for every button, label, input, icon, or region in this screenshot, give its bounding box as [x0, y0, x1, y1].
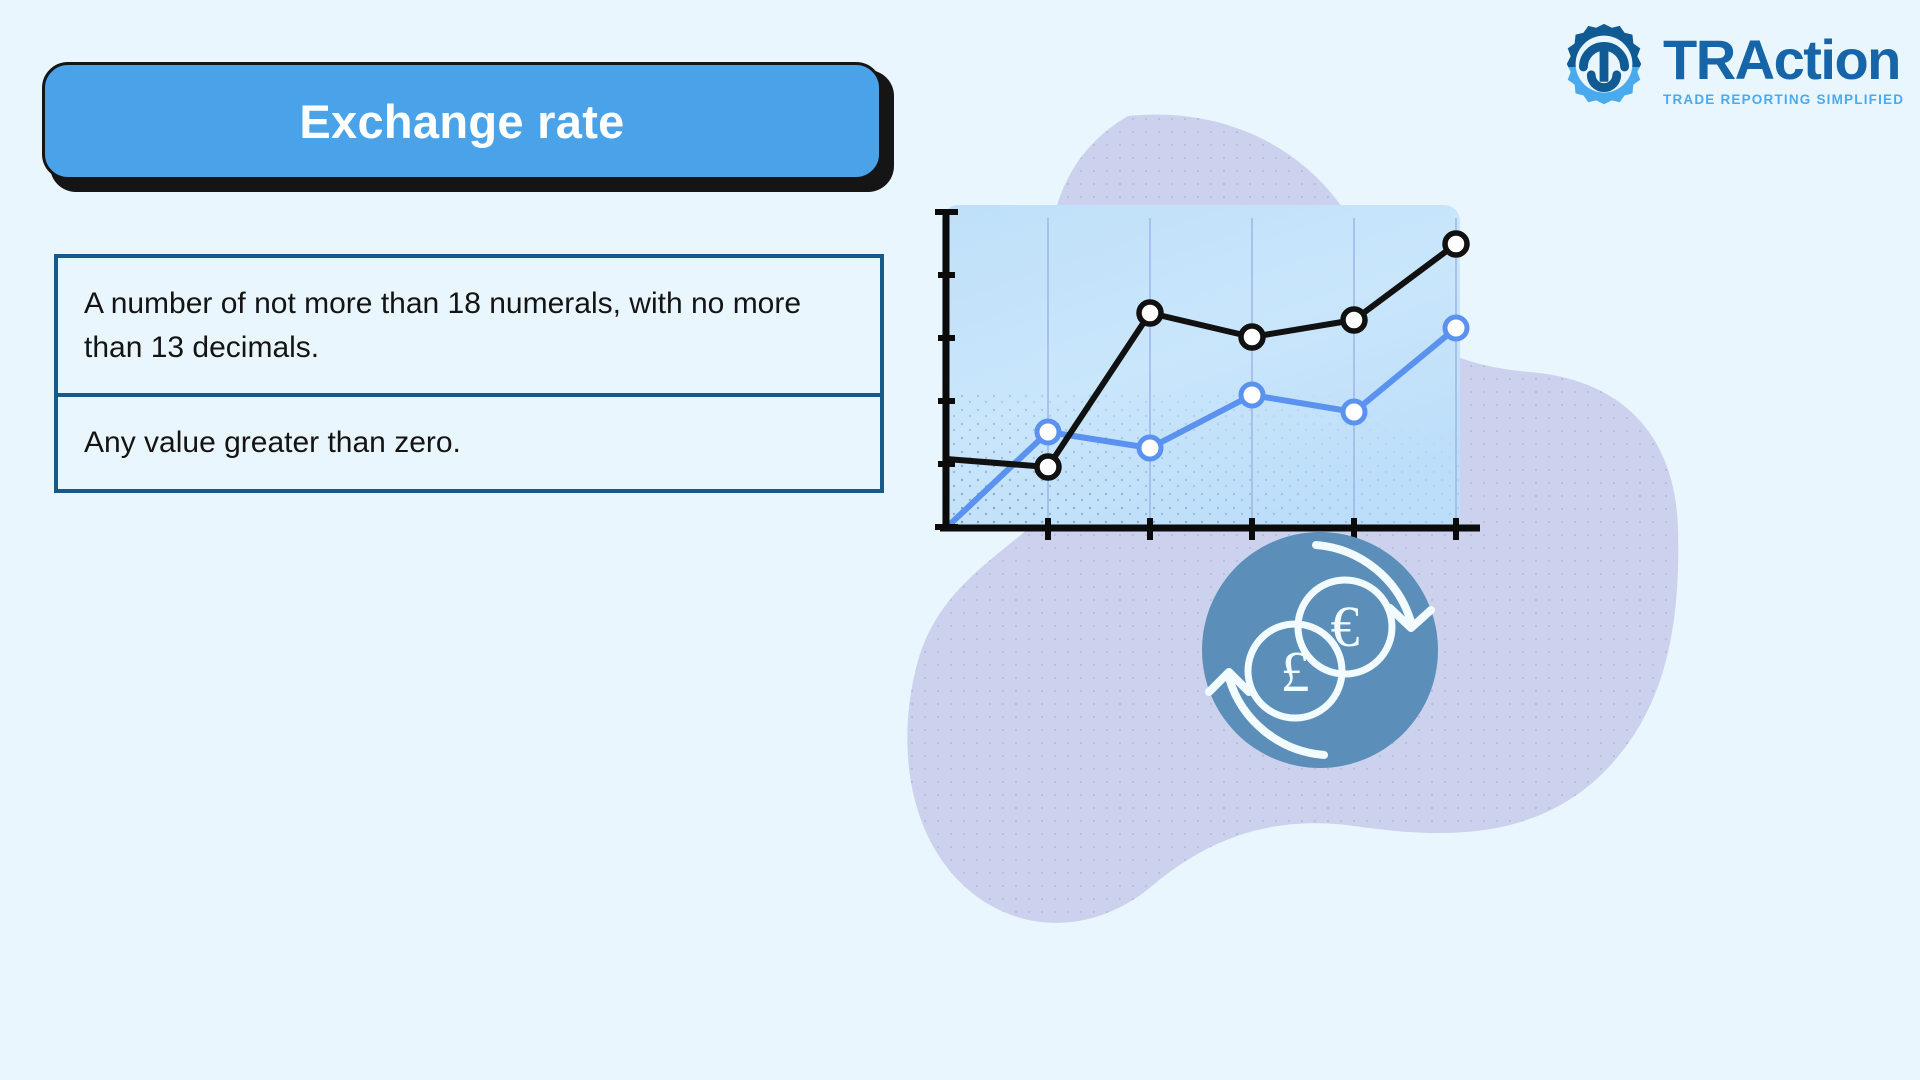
table-row: A number of not more than 18 numerals, w… [58, 258, 880, 397]
logo-wordmark: TRAction [1663, 32, 1904, 88]
title-banner: Exchange rate [42, 62, 894, 192]
slide-canvas: TRAction TRADE REPORTING SIMPLIFIED Exch… [0, 0, 1920, 1080]
currency-exchange-icon: € £ [1200, 530, 1440, 770]
chart-texture [950, 390, 1460, 528]
page-title: Exchange rate [299, 98, 624, 145]
exchange-rate-chart [880, 100, 1880, 930]
traction-gear-logo-icon [1555, 18, 1653, 116]
table-row: Any value greater than zero. [58, 397, 880, 489]
chart-svg [880, 100, 1880, 930]
euro-symbol: € [1331, 594, 1360, 659]
banner-body: Exchange rate [42, 62, 882, 180]
pound-symbol: £ [1281, 639, 1310, 704]
logo-tagline: TRADE REPORTING SIMPLIFIED [1663, 93, 1904, 107]
traction-logo: TRAction TRADE REPORTING SIMPLIFIED [1555, 18, 1904, 116]
info-table: A number of not more than 18 numerals, w… [54, 254, 884, 493]
